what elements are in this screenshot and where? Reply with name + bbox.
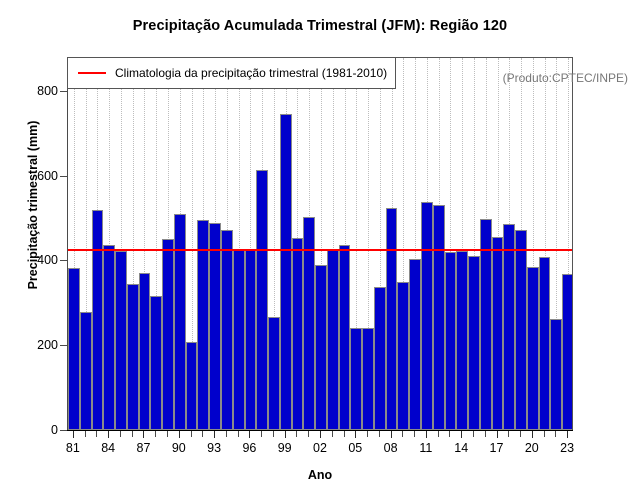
x-axis-tick-label: 05 [335,441,375,455]
y-axis-tick [60,176,67,177]
x-axis-tick [167,431,168,437]
x-axis-tick [108,431,109,438]
x-axis-tick [155,431,156,437]
bar [350,328,362,430]
legend: Climatologia da precipitação trimestral … [67,57,396,89]
bar [456,251,468,430]
bar [503,224,515,430]
x-axis-tick [261,431,262,437]
x-axis-tick-label: 11 [406,441,446,455]
chart-title: Precipitação Acumulada Trimestral (JFM):… [0,18,640,34]
x-axis-tick [520,431,521,437]
x-axis-tick [179,431,180,438]
x-axis-tick-label: 93 [194,441,234,455]
bar [115,251,127,430]
y-axis-tick [60,260,67,261]
chart-figure: Precipitação Acumulada Trimestral (JFM):… [0,0,640,500]
bar [468,256,480,430]
bar [515,230,527,430]
bar [280,114,292,430]
x-axis-tick [555,431,556,437]
y-axis-tick-label: 200 [0,339,58,351]
x-axis-tick [414,431,415,437]
x-axis-tick [296,431,297,437]
x-axis-title: Ano [0,468,640,482]
bar [339,245,351,430]
x-axis-tick [332,431,333,437]
bar [409,259,421,430]
x-axis-tick [96,431,97,437]
x-axis-tick [391,431,392,438]
y-axis-tick [60,345,67,346]
x-axis-tick [143,431,144,438]
bar [162,239,174,430]
bar [397,282,409,430]
bar [433,205,445,430]
x-axis-tick [438,431,439,437]
x-axis-tick-label: 87 [123,441,163,455]
x-axis-tick-label: 14 [441,441,481,455]
x-axis-tick [132,431,133,437]
bar [327,249,339,430]
x-axis-tick [226,431,227,437]
plot-area [67,57,573,430]
bar [362,328,374,430]
x-axis-tick [379,431,380,437]
x-axis-tick [567,431,568,438]
bar [445,252,457,430]
y-axis-tick [60,430,67,431]
producer-credit: (Produto:CPTEC/INPE) [503,71,628,85]
x-axis-tick [508,431,509,437]
bar [127,284,139,430]
x-axis-tick [461,431,462,438]
bar [150,296,162,430]
y-axis-line [67,57,68,431]
bar [527,267,539,430]
bar [139,273,151,430]
x-axis-tick [73,431,74,438]
bar [197,220,209,430]
x-axis-tick-label: 17 [477,441,517,455]
bar [209,223,221,430]
x-axis-tick [308,431,309,437]
bar [80,312,92,430]
legend-label: Climatologia da precipitação trimestral … [115,66,387,80]
x-axis-tick [485,431,486,437]
bar [68,268,80,430]
x-axis-tick-label: 96 [229,441,269,455]
bar [256,170,268,430]
x-axis-tick-label: 84 [88,441,128,455]
x-axis-tick-label: 20 [512,441,552,455]
x-axis-tick [355,431,356,438]
y-axis-tick-label: 0 [0,424,58,436]
x-axis-tick [473,431,474,437]
y-axis-title: Precipitação trimestral (mm) [26,80,40,330]
bar [221,230,233,430]
bar [92,210,104,430]
x-axis-tick [191,431,192,437]
x-axis-tick [285,431,286,438]
x-axis-tick-label: 99 [265,441,305,455]
bar [268,317,280,430]
x-axis-tick [497,431,498,438]
x-axis-tick [238,431,239,437]
legend-line-swatch [78,72,106,74]
climatology-reference-line [67,249,573,251]
x-axis-tick-label: 23 [547,441,587,455]
bar [103,245,115,430]
x-axis-tick [214,431,215,438]
bar [539,257,551,430]
x-axis-tick-label: 90 [159,441,199,455]
x-axis-tick [344,431,345,437]
y-axis-tick [60,91,67,92]
x-axis-tick [402,431,403,437]
x-axis-tick [532,431,533,438]
x-axis-tick [249,431,250,438]
bar [292,238,304,430]
x-axis-tick [202,431,203,437]
bar [374,287,386,430]
x-axis-tick [320,431,321,438]
bar [245,249,257,430]
x-axis-tick [367,431,368,437]
bar [315,265,327,430]
bar [186,342,198,430]
x-axis-tick [273,431,274,437]
bar [233,250,245,430]
bar [174,214,186,430]
bar [562,274,573,430]
x-axis-tick [426,431,427,438]
x-axis-tick-label: 08 [371,441,411,455]
bar [386,208,398,430]
x-axis-tick-label: 81 [53,441,93,455]
x-axis-tick-label: 02 [300,441,340,455]
x-axis-tick [120,431,121,437]
bar [421,202,433,430]
x-axis-tick [85,431,86,437]
bar [550,319,562,430]
plot-inner [68,58,572,430]
x-axis-tick [544,431,545,437]
x-axis-tick [449,431,450,437]
bar [492,237,504,430]
